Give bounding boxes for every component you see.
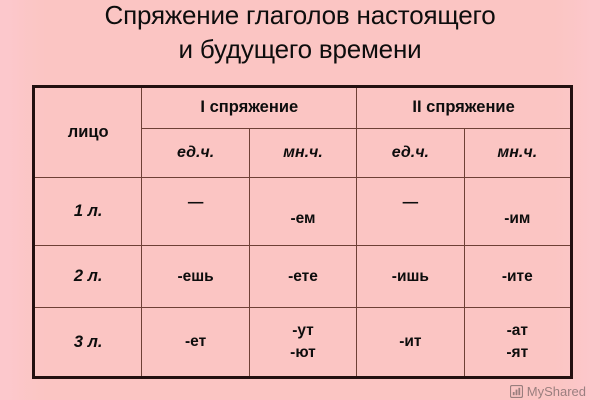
cell-3-c1-plural: -ут -ют (249, 308, 356, 378)
header-c1-plural: мн.ч. (249, 128, 356, 177)
cell-1-c2-plural: -им (464, 185, 571, 253)
cell-3-c2-plural: -ат -ят (464, 308, 571, 378)
table-row: 1 л. — -ем — -им (34, 178, 572, 246)
header-c2-plural: мн.ч. (464, 128, 571, 177)
cell-2-c1-singular: -ешь (142, 245, 249, 307)
header-conjugation-2: II спряжение (357, 87, 572, 129)
page-title: Спряжение глаголов настоящего и будущего… (0, 0, 600, 66)
table-row: 3 л. -ет -ут -ют -ит -ат -ят (34, 308, 572, 378)
row-label-2: 2 л. (34, 245, 142, 307)
cell-3-c2-singular: -ит (357, 308, 464, 378)
cell-2-c1-plural: -ете (249, 245, 356, 307)
cell-1-c2-singular: — (357, 169, 464, 237)
cell-1-c1-singular: — (142, 169, 249, 237)
conjugation-table: лицо I спряжение II спряжение ед.ч. мн.ч… (32, 85, 573, 379)
chart-document-icon (510, 385, 523, 398)
header-conjugation-1: I спряжение (142, 87, 357, 129)
slide-canvas: Спряжение глаголов настоящего и будущего… (0, 0, 600, 400)
cell-3-c1-singular: -ет (142, 308, 249, 378)
header-person: лицо (34, 87, 142, 178)
table-header-row-main: лицо I спряжение II спряжение (34, 87, 572, 129)
cell-2-c2-singular: -ишь (357, 245, 464, 307)
watermark: MyShared (510, 384, 586, 399)
row-label-1: 1 л. (34, 178, 142, 246)
watermark-label: MyShared (527, 384, 586, 399)
table-row: 2 л. -ешь -ете -ишь -ите (34, 245, 572, 307)
row-label-3: 3 л. (34, 308, 142, 378)
cell-2-c2-plural: -ите (464, 245, 571, 307)
cell-1-c1-plural: -ем (249, 185, 356, 253)
